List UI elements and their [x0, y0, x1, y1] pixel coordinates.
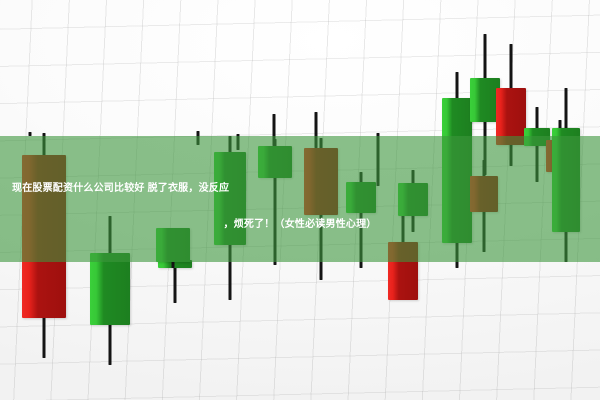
candlestick-chart-image: 现在股票配资什么公司比较好 脱了衣服，没反应 ，烦死了！（女性必读男性心理） — [0, 0, 600, 400]
overlay-title-line-1: 现在股票配资什么公司比较好 脱了衣服，没反应 — [0, 172, 600, 206]
overlay-title-line-2: ，烦死了！（女性必读男性心理） — [0, 208, 600, 242]
candlestick-body — [90, 253, 130, 325]
